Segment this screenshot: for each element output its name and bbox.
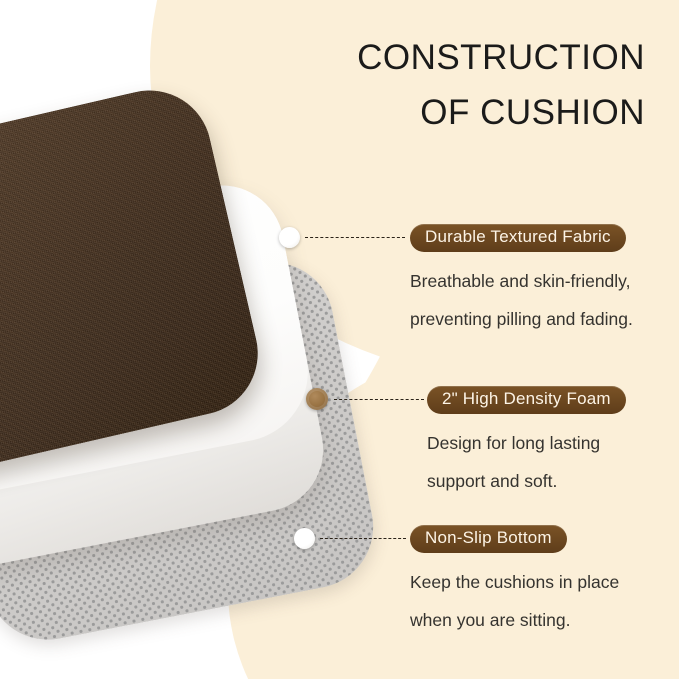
title-line-1: CONSTRUCTION <box>225 30 645 85</box>
callout-high-density-foam: 2" High Density Foam Design for long las… <box>427 386 626 500</box>
description-line-1: Design for long lasting <box>427 424 626 462</box>
description-line-1: Keep the cushions in place <box>410 563 619 601</box>
title-line-2: OF CUSHION <box>225 85 645 140</box>
cushion-stack <box>0 118 412 588</box>
callout-non-slip-bottom: Non-Slip Bottom Keep the cushions in pla… <box>410 525 619 639</box>
description-line-2: preventing pilling and fading. <box>410 300 633 338</box>
connector-line-non-slip-bottom <box>320 538 406 539</box>
callout-textured-fabric: Durable Textured Fabric Breathable and s… <box>410 224 633 338</box>
description-high-density-foam: Design for long lasting support and soft… <box>427 424 626 500</box>
badge-high-density-foam: 2" High Density Foam <box>427 386 626 414</box>
badge-textured-fabric: Durable Textured Fabric <box>410 224 626 252</box>
badge-non-slip-bottom: Non-Slip Bottom <box>410 525 567 553</box>
description-line-2: when you are sitting. <box>410 601 619 639</box>
description-line-2: support and soft. <box>427 462 626 500</box>
description-non-slip-bottom: Keep the cushions in place when you are … <box>410 563 619 639</box>
marker-textured-fabric <box>279 227 300 248</box>
page-title: CONSTRUCTION OF CUSHION <box>225 30 645 141</box>
description-textured-fabric: Breathable and skin-friendly, preventing… <box>410 262 633 338</box>
description-line-1: Breathable and skin-friendly, <box>410 262 633 300</box>
connector-line-textured-fabric <box>305 237 405 238</box>
infographic-canvas: CONSTRUCTION OF CUSHION Durable Textured… <box>0 0 679 679</box>
marker-high-density-foam <box>306 388 328 410</box>
connector-line-high-density-foam <box>334 399 424 400</box>
marker-non-slip-bottom <box>294 528 315 549</box>
